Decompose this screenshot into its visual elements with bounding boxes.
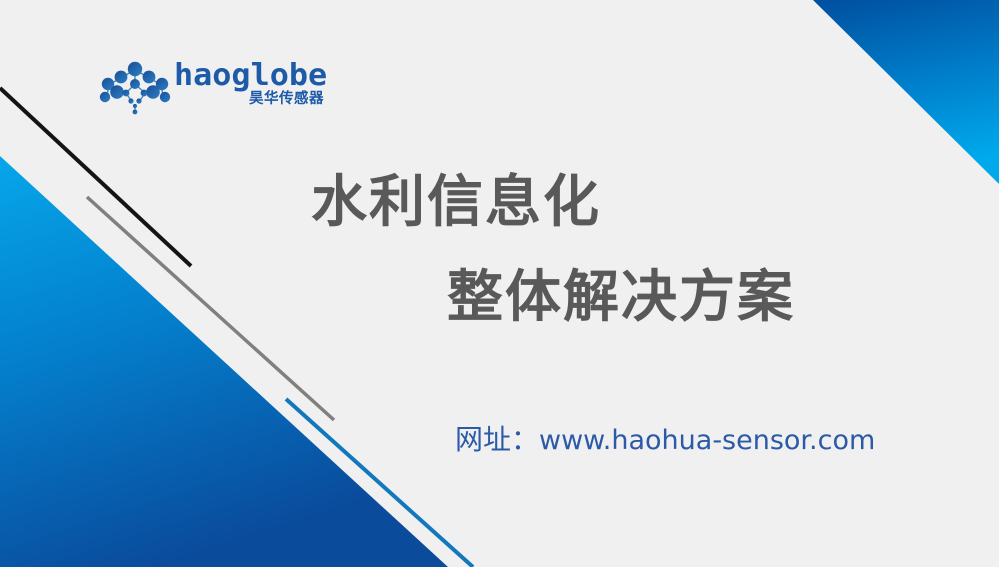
website-label: 网址： <box>455 423 539 456</box>
network-dots-logo-icon <box>96 60 174 116</box>
website-line: 网址：www.haohua-sensor.com <box>455 420 875 461</box>
logo-text-group: haoglobe 昊华传感器 <box>174 58 324 118</box>
company-logo: haoglobe 昊华传感器 <box>96 58 321 120</box>
slide-title-line-2: 整体解决方案 <box>447 263 795 333</box>
logo-subtitle-chinese: 昊华传感器 <box>249 91 324 107</box>
presentation-slide: haoglobe 昊华传感器 水利信息化 整体解决方案 网址：www.haohu… <box>0 0 999 567</box>
website-url[interactable]: www.haohua-sensor.com <box>539 425 875 456</box>
slide-title-line-1: 水利信息化 <box>311 168 601 238</box>
logo-wordmark: haoglobe <box>174 60 327 92</box>
